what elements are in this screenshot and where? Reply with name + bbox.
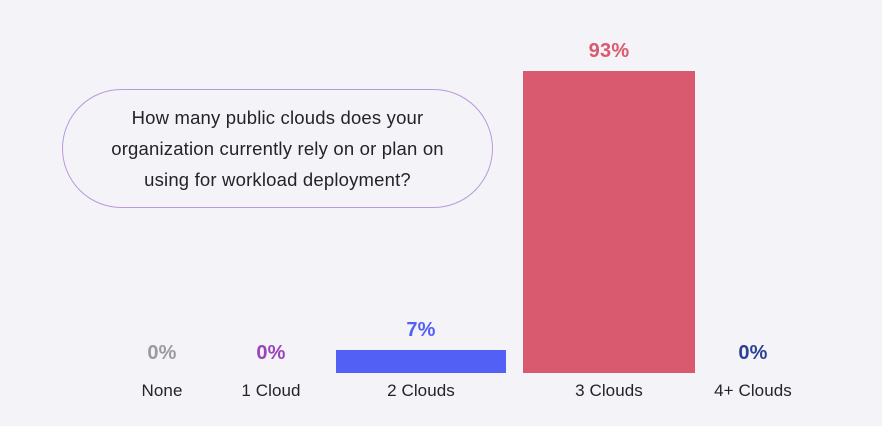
bar-rect [336,350,506,373]
cloud-adoption-bar-chart: How many public clouds does your organiz… [0,0,882,426]
bar-group: 0% [668,342,838,373]
bar-category-label: 4+ Clouds [668,381,838,401]
bar-value-label: 0% [256,342,285,365]
bar-value-label: 7% [406,319,435,342]
bar-value-label: 93% [589,40,630,63]
bar-value-label: 0% [738,342,767,365]
bar-group: 7% [336,319,506,373]
bar-category-label: 2 Clouds [336,381,506,401]
bar-value-label: 0% [147,342,176,365]
bar-group: 93% [523,40,695,373]
bar-rect [523,71,695,373]
plot-area: 0%None0%1 Cloud7%2 Clouds93%3 Clouds0%4+… [0,0,882,426]
bar-category-label: 1 Cloud [186,381,356,401]
bar-group: 0% [186,342,356,373]
